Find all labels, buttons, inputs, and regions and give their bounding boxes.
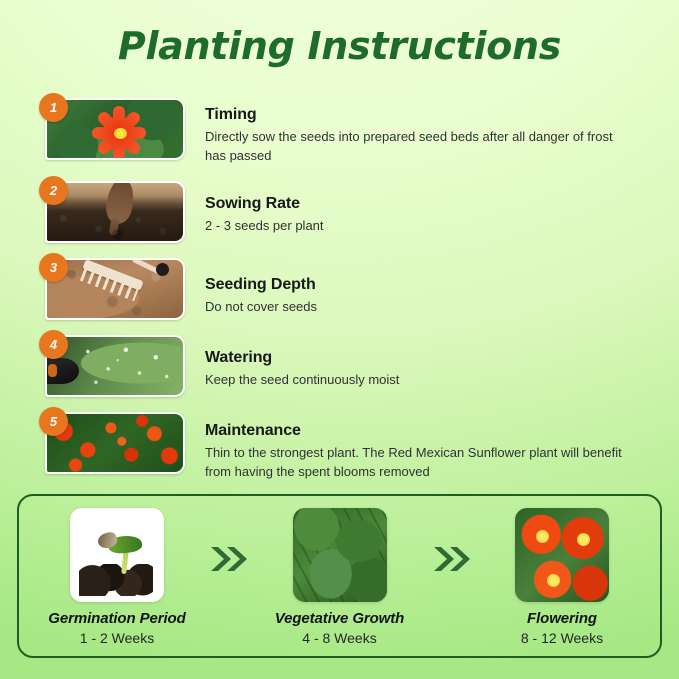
timeline-stage-duration: 8 - 12 Weeks <box>478 630 646 646</box>
step-thumbnail-wrap: 4 <box>39 330 187 397</box>
flower-center <box>577 533 590 546</box>
rake-head-icon <box>83 260 144 291</box>
timeline-stage-duration: 1 - 2 Weeks <box>33 630 201 646</box>
hand-icon <box>104 183 137 226</box>
double-chevron-right-icon <box>205 512 251 606</box>
step-text-block: Seeding Depth Do not cover seeds <box>187 253 317 317</box>
step-item-maintenance: 5 Maintenance Thin to the strongest plan… <box>39 407 647 482</box>
step-text-block: Timing Directly sow the seeds into prepa… <box>187 93 635 166</box>
step-title: Timing <box>205 105 635 125</box>
step-thumbnail-wrap: 1 <box>39 93 187 160</box>
step-number-badge: 1 <box>39 93 68 122</box>
green-foliage-photo <box>293 508 387 602</box>
timeline-stage-vegetative-growth: Vegetative Growth 4 - 8 Weeks <box>256 508 424 646</box>
step-number-badge: 2 <box>39 176 68 205</box>
timeline-stage-duration: 4 - 8 Weeks <box>256 630 424 646</box>
step-item-sowing-rate: 2 Sowing Rate 2 - 3 seeds per plant <box>39 176 647 243</box>
soil-mound <box>79 564 152 596</box>
step-thumbnail-wrap: 3 <box>39 253 187 320</box>
step-title: Maintenance <box>205 421 635 441</box>
step-text-block: Maintenance Thin to the strongest plant.… <box>187 407 635 482</box>
step-description: Thin to the strongest plant. The Red Mex… <box>205 444 635 482</box>
growth-timeline-panel: Germination Period 1 - 2 Weeks Vegetativ… <box>17 494 662 658</box>
hose-nozzle-icon <box>47 358 79 384</box>
step-number-badge: 4 <box>39 330 68 359</box>
step-text-block: Sowing Rate 2 - 3 seeds per plant <box>187 176 324 236</box>
step-description: Do not cover seeds <box>205 298 317 317</box>
orange-flowers-photo <box>515 508 609 602</box>
step-number-badge: 5 <box>39 407 68 436</box>
timeline-stage-name: Flowering <box>478 610 646 627</box>
step-text-block: Watering Keep the seed continuously mois… <box>187 330 399 390</box>
step-title: Sowing Rate <box>205 194 324 214</box>
step-thumbnail-wrap: 5 <box>39 407 187 474</box>
timeline-stage-name: Germination Period <box>33 610 201 627</box>
flower-center <box>536 530 549 543</box>
step-description: Keep the seed continuously moist <box>205 371 399 390</box>
flower-petals-icon <box>91 109 149 157</box>
step-number-badge: 3 <box>39 253 68 282</box>
timeline-stage-germination: Germination Period 1 - 2 Weeks <box>33 508 201 646</box>
planting-instructions-infographic: Planting Instructions <box>0 0 679 679</box>
rake-knob <box>156 263 169 276</box>
step-thumbnail-wrap: 2 <box>39 176 187 243</box>
step-item-watering: 4 Watering Keep the seed continuously mo… <box>39 330 647 397</box>
step-title: Watering <box>205 348 399 368</box>
sprouting-seed-photo <box>70 508 164 602</box>
step-description: Directly sow the seeds into prepared see… <box>205 128 635 166</box>
timeline-stage-name: Vegetative Growth <box>256 610 424 627</box>
steps-list: 1 Timing Directly sow the seeds into pre… <box>39 93 647 491</box>
step-description: 2 - 3 seeds per plant <box>205 217 324 236</box>
double-chevron-right-icon <box>428 512 474 606</box>
page-title: Planting Instructions <box>0 24 679 68</box>
step-item-timing: 1 Timing Directly sow the seeds into pre… <box>39 93 647 166</box>
flower-center <box>547 574 560 587</box>
flower-center <box>114 128 127 139</box>
step-item-seeding-depth: 3 Seeding Depth Do not cover seeds <box>39 253 647 320</box>
step-title: Seeding Depth <box>205 275 317 295</box>
timeline-stage-flowering: Flowering 8 - 12 Weeks <box>478 508 646 646</box>
